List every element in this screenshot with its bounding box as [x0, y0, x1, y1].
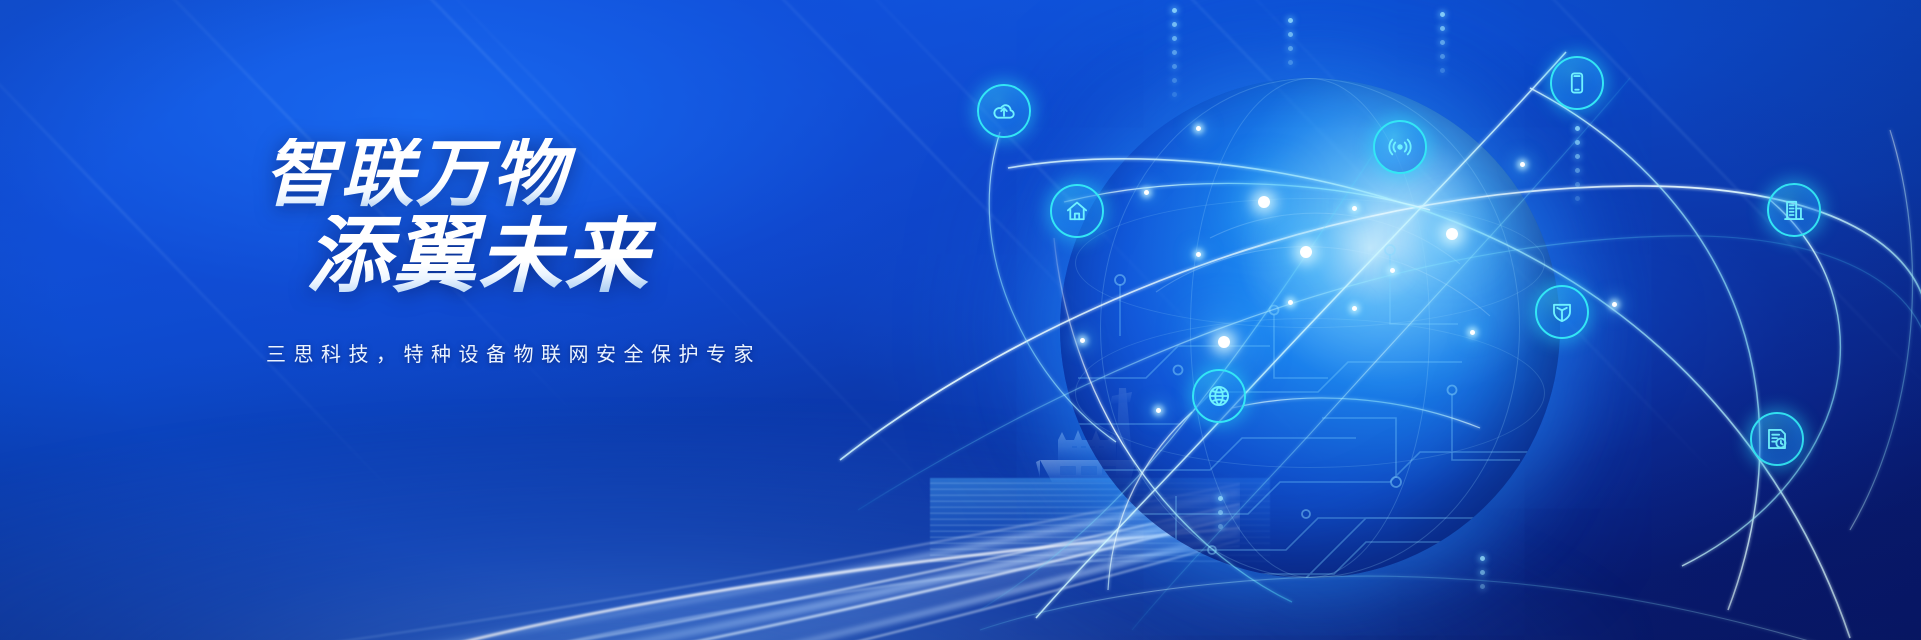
network-glow-node [1156, 408, 1161, 413]
network-glow-node [1446, 228, 1458, 240]
building-icon-node[interactable] [1767, 183, 1821, 237]
document-report-icon [1764, 426, 1790, 452]
globe-icon-node[interactable] [1192, 369, 1246, 423]
headline-block: 智联万物 添翼未来 三思科技，特种设备物联网安全保护专家 [248, 138, 948, 367]
network-glow-node [1258, 196, 1270, 208]
wifi-signal-icon [1387, 134, 1413, 160]
dotted-trail [1288, 18, 1293, 74]
shield-icon-node[interactable] [1535, 285, 1589, 339]
wifi-signal-icon-node[interactable] [1373, 120, 1427, 174]
network-glow-node [1288, 300, 1293, 305]
banner-subtitle: 三思科技，特种设备物联网安全保护专家 [266, 338, 948, 367]
smartphone-icon [1564, 70, 1590, 96]
iot-promo-banner: 智联万物 添翼未来 三思科技，特种设备物联网安全保护专家 [0, 0, 1921, 640]
dotted-trail [1575, 126, 1580, 210]
network-glow-node [1218, 336, 1230, 348]
network-glow-node [1390, 268, 1395, 273]
network-glow-node [1300, 246, 1312, 258]
dotted-trail [1172, 8, 1177, 106]
network-glow-node [1196, 252, 1201, 257]
network-glow-node [1470, 330, 1475, 335]
network-glow-node [1196, 126, 1201, 131]
dotted-trail [1440, 12, 1445, 82]
cloud-upload-icon [991, 98, 1017, 124]
dotted-trail [1218, 496, 1223, 538]
shield-icon [1549, 299, 1575, 325]
network-glow-node [1080, 338, 1085, 343]
document-report-icon-node[interactable] [1750, 412, 1804, 466]
network-glow-node [1612, 302, 1617, 307]
smartphone-icon-node[interactable] [1550, 56, 1604, 110]
home-icon [1064, 198, 1090, 224]
network-glow-node [1352, 206, 1357, 211]
dotted-trail [1480, 556, 1485, 598]
headline-line-2: 添翼未来 [306, 215, 948, 296]
building-icon [1781, 197, 1807, 223]
network-glow-node [1520, 162, 1525, 167]
home-icon-node[interactable] [1050, 184, 1104, 238]
network-glow-node [1352, 306, 1357, 311]
cloud-upload-icon-node[interactable] [977, 84, 1031, 138]
globe-icon [1206, 383, 1232, 409]
network-glow-node [1144, 190, 1149, 195]
headline-line-1: 智联万物 [264, 138, 948, 209]
